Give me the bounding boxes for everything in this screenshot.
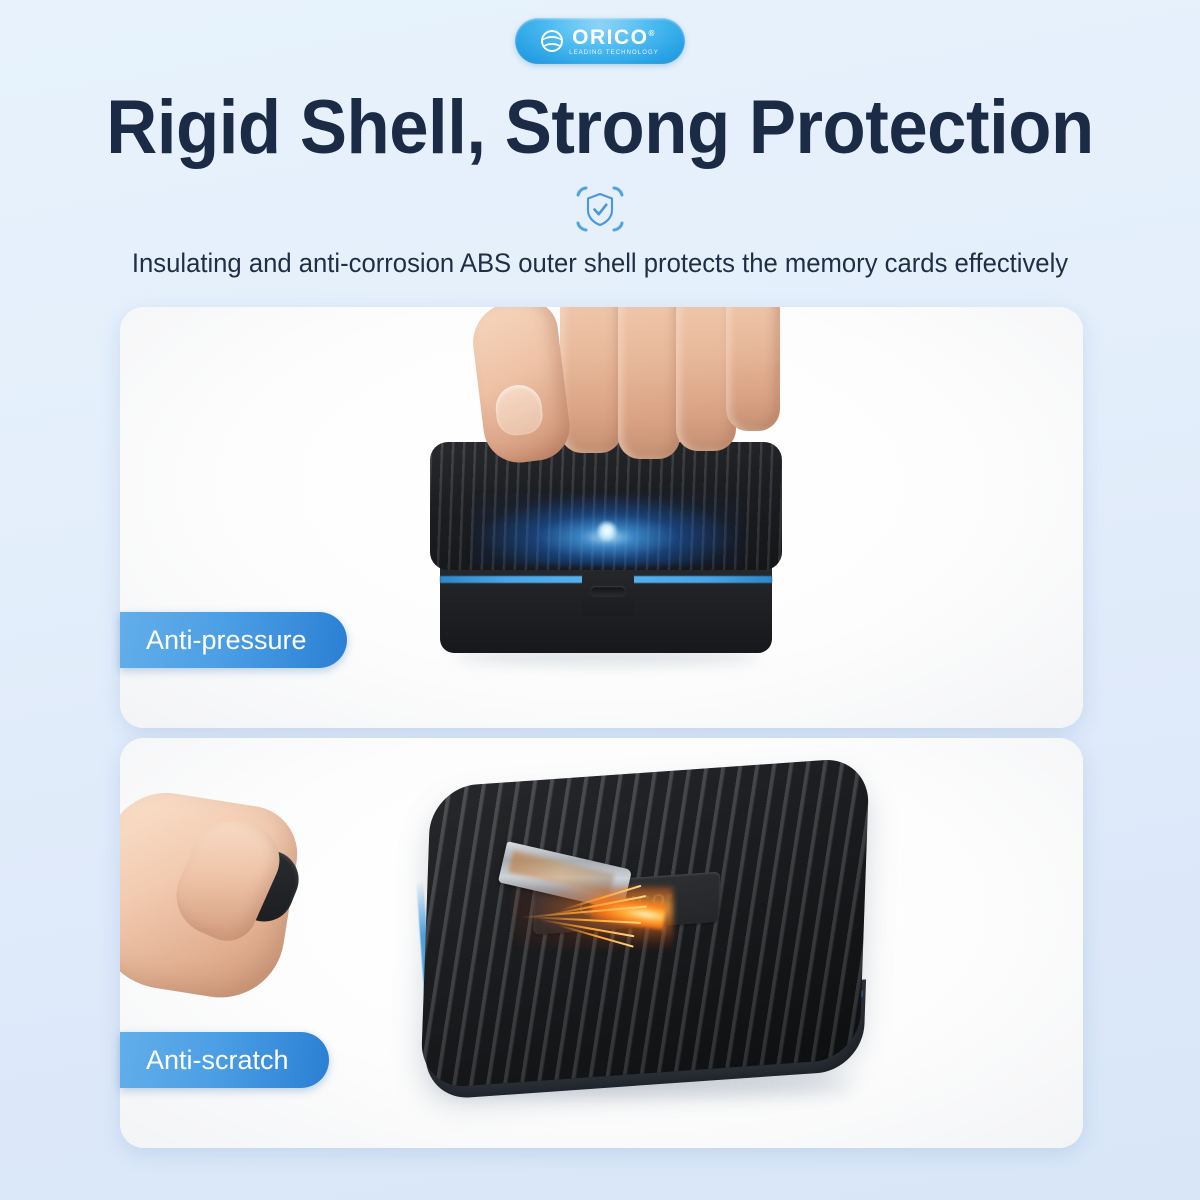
badge-anti-scratch: Anti-scratch: [120, 1032, 329, 1088]
page-subtitle: Insulating and anti-corrosion ABS outer …: [30, 248, 1170, 279]
case-latch-button: [582, 572, 634, 616]
brand-tagline: LEADING TECHNOLOGY: [569, 50, 659, 56]
badge-anti-pressure-label: Anti-pressure: [146, 625, 307, 656]
shield-check-icon: [573, 183, 627, 235]
impact-spark-point: [596, 520, 618, 542]
badge-anti-pressure: Anti-pressure: [120, 612, 347, 668]
brand-logo-text: ORICO® LEADING TECHNOLOGY: [569, 27, 659, 56]
spark-effect: [513, 881, 693, 959]
hand-pressing: [468, 307, 768, 472]
hand-holding-blade: [160, 798, 360, 1013]
orico-globe-icon: [541, 30, 563, 52]
brand-name: ORICO®: [572, 27, 656, 48]
registered-mark: ®: [648, 29, 655, 38]
page-title: Rigid Shell, Strong Protection: [42, 84, 1158, 171]
badge-anti-scratch-label: Anti-scratch: [146, 1045, 289, 1076]
memory-card-case-product: [430, 442, 782, 667]
brand-logo: ORICO® LEADING TECHNOLOGY: [515, 18, 685, 64]
memory-card-case-product-angled: ORICO®: [385, 763, 905, 1115]
brand-logo-pill: ORICO® LEADING TECHNOLOGY: [515, 18, 685, 64]
